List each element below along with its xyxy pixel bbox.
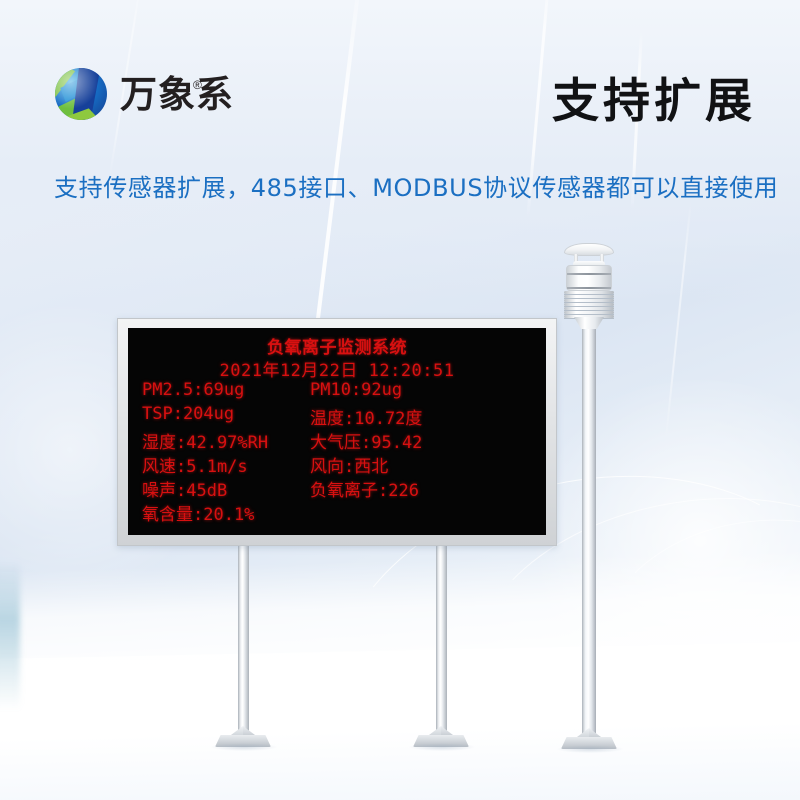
led-screen: 负氧离子监测系统 2021年12月22日 12:20:51 PM2.5:69ug… [128,328,546,535]
background-teal-accent [0,560,20,710]
sensor-band-lower [567,287,611,289]
led-row: 湿度:42.97%RH 大气压:95.42 [128,428,546,454]
page-title: 支持扩展 [552,78,756,125]
led-value-wind-direction: 风向:西北 [310,452,388,477]
weather-sensor-head-icon [552,243,626,325]
led-value-pm10: PM10:92ug [310,380,402,400]
led-value-humidity: 湿度:42.97%RH [142,428,268,453]
led-value-noise: 噪声:45dB [142,476,227,501]
brand-logo: 万象系 [55,68,234,120]
led-value-pm25: PM2.5:69ug [142,380,244,400]
led-value-tsp: TSP:204ug [142,404,234,424]
sensor-radiation-shield [564,291,614,319]
board-leg-right [436,542,447,734]
led-display-board: 负氧离子监测系统 2021年12月22日 12:20:51 PM2.5:69ug… [117,318,557,546]
base-plate-right [413,726,469,748]
background-top-fade [0,0,800,300]
sensor-band-upper [567,273,611,275]
led-row: 氧含量:20.1% [128,500,546,526]
globe-swirl-logo-icon [55,68,107,120]
sensor-mast [582,316,596,736]
base-plate-mast [561,728,617,750]
base-plate-left [215,726,271,748]
led-row: PM2.5:69ug PM10:92ug [128,380,546,406]
board-leg-left [238,542,249,734]
promo-banner: 万象系 ® 支持扩展 支持传感器扩展，485接口、MODBUS协议传感器都可以直… [0,0,800,800]
led-value-pressure: 大气压:95.42 [310,428,422,453]
led-value-wind-speed: 风速:5.1m/s [142,452,248,477]
led-datetime: 2021年12月22日 12:20:51 [128,356,546,381]
led-row: 噪声:45dB 负氧离子:226 [128,476,546,502]
led-value-oxygen: 氧含量:20.1% [142,500,254,525]
brand-wordmark: 万象系 [120,76,234,113]
led-value-temperature: 温度:10.72度 [310,404,422,429]
page-subtitle: 支持传感器扩展，485接口、MODBUS协议传感器都可以直接使用 [54,168,774,203]
led-row: 风速:5.1m/s 风向:西北 [128,452,546,478]
registered-trademark-icon: ® [193,78,202,92]
sensor-cap [564,243,614,256]
ground-plane-lower [0,640,800,800]
led-row: TSP:204ug 温度:10.72度 [128,404,546,430]
led-title: 负氧离子监测系统 [128,333,546,358]
led-value-negative-ions: 负氧离子:226 [310,476,419,501]
